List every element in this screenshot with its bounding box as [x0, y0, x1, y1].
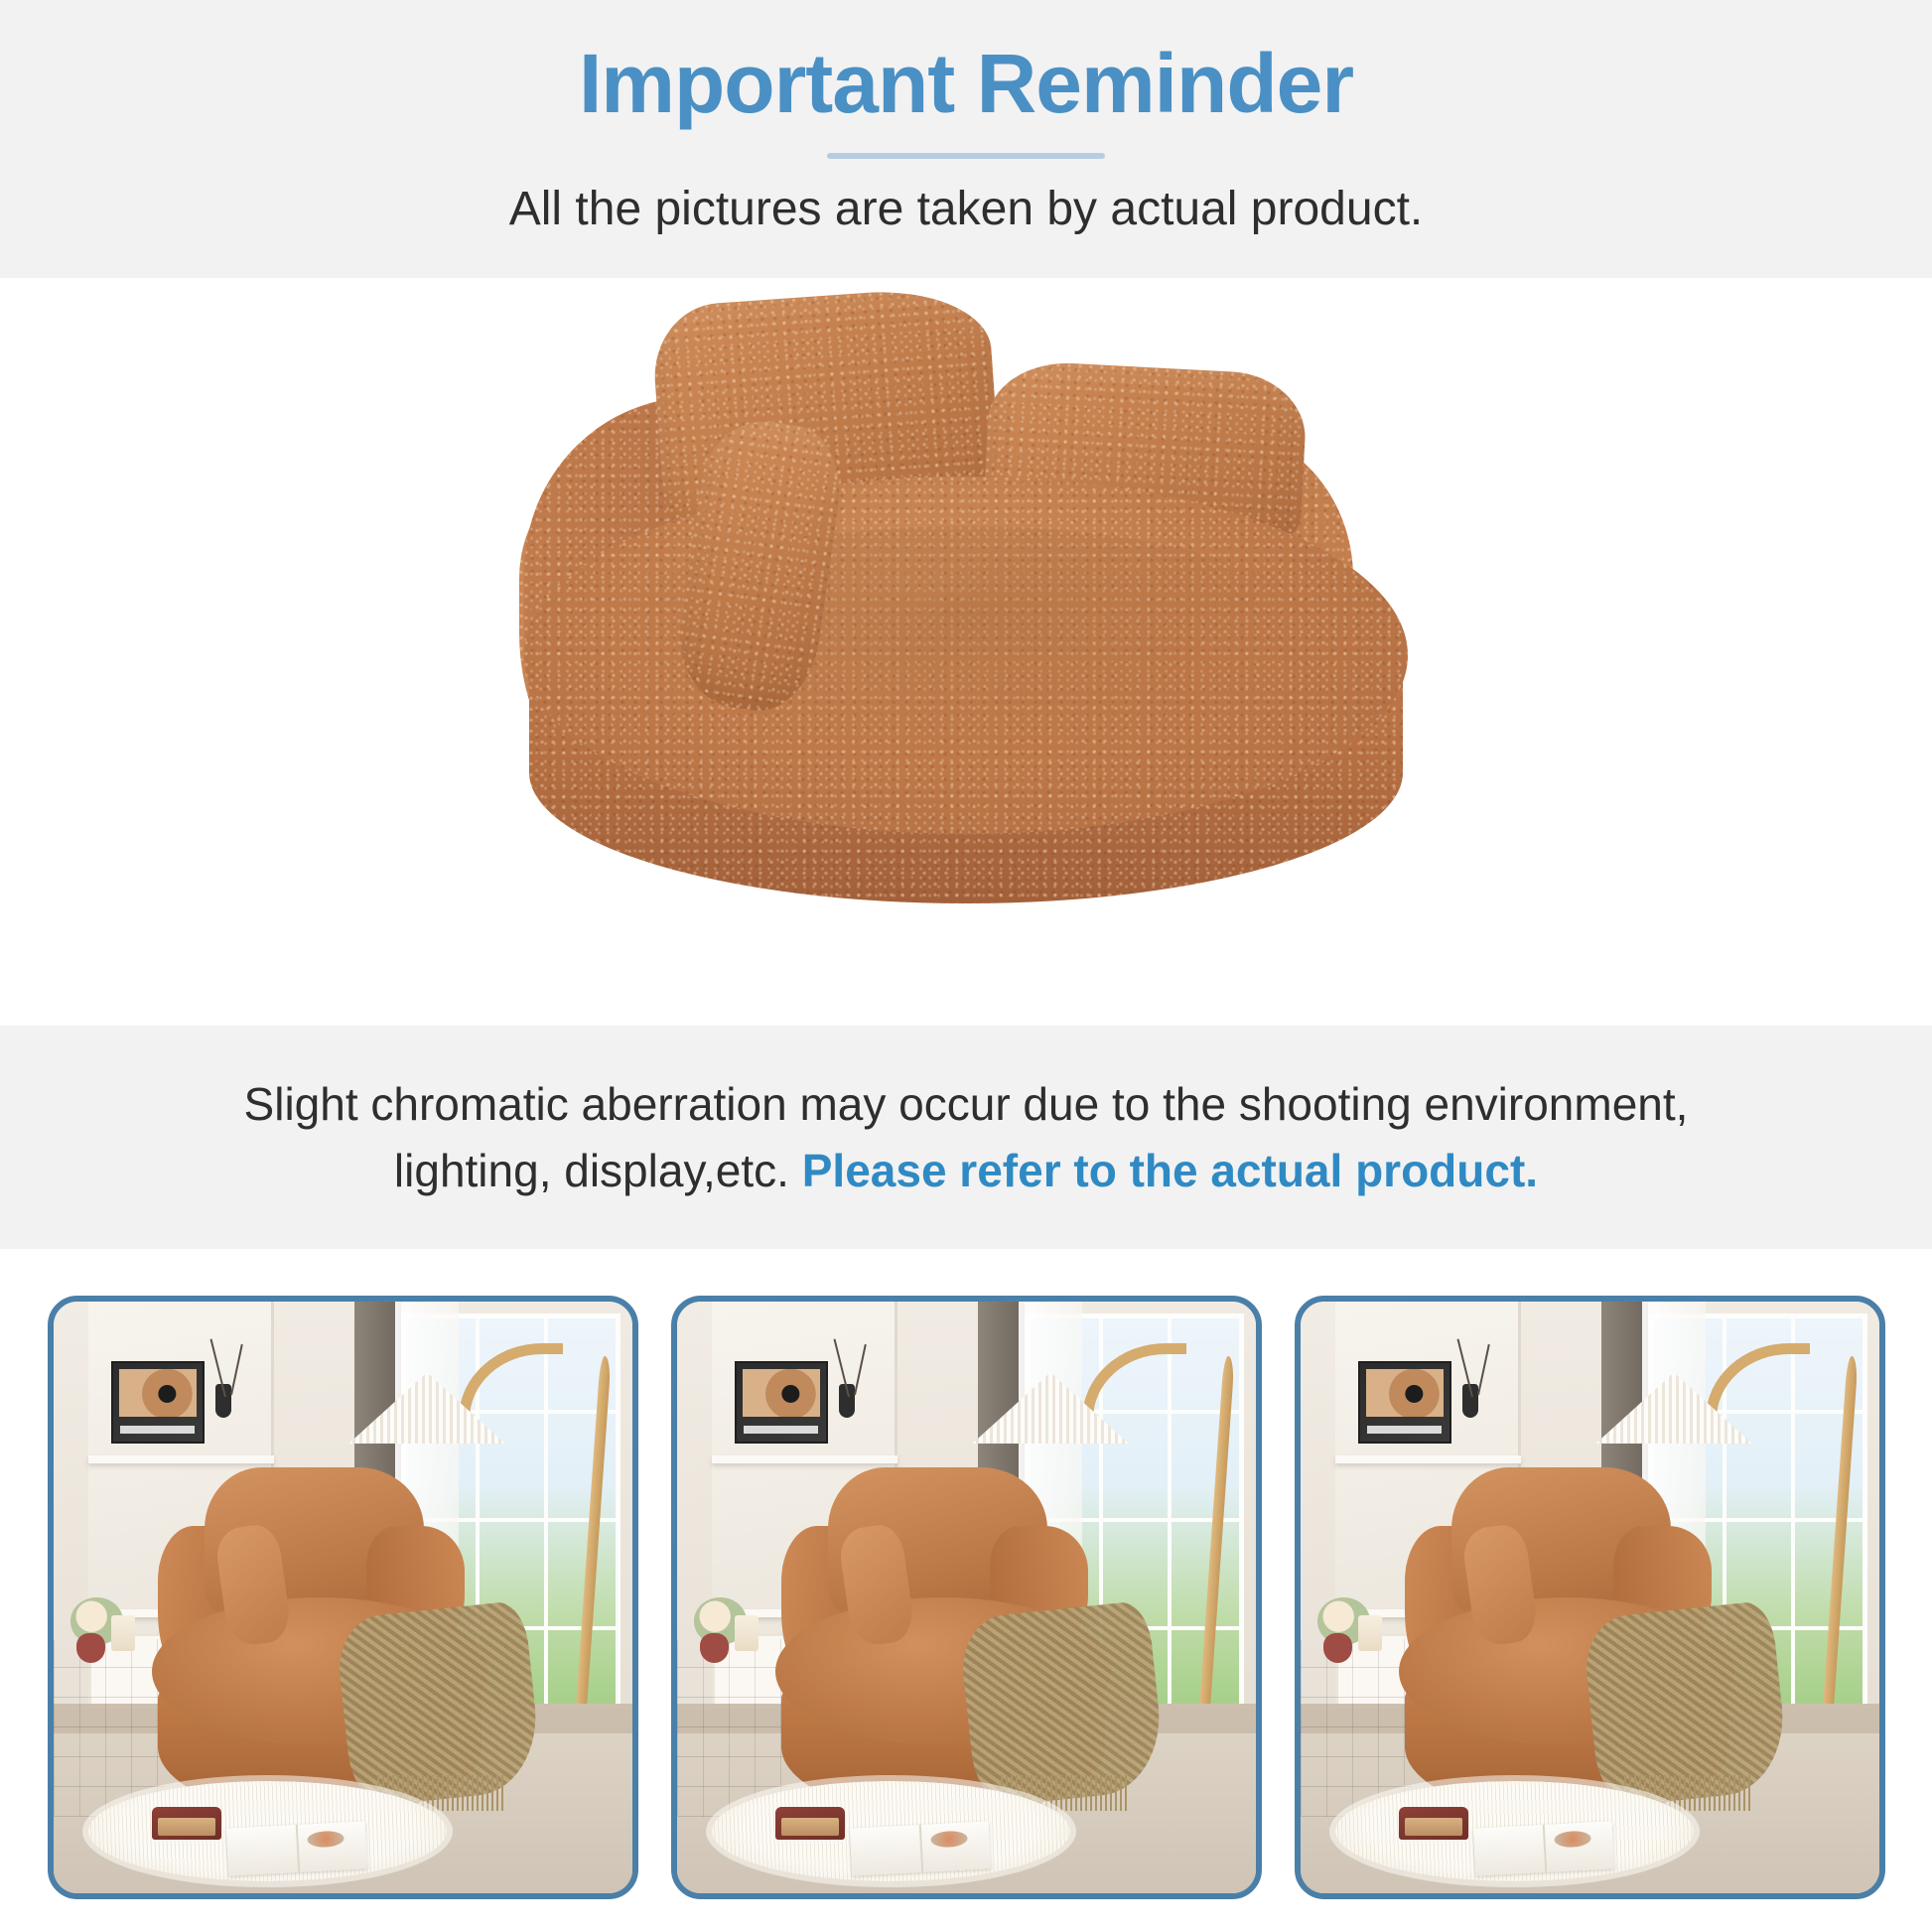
room-scene: [54, 1302, 632, 1893]
red-vase: [76, 1633, 105, 1663]
open-magazine: [226, 1822, 367, 1876]
vintage-radio: [775, 1807, 845, 1840]
candle: [111, 1615, 134, 1651]
poster-caption: [1367, 1426, 1442, 1434]
framed-poster: [111, 1361, 204, 1444]
product-detail-page: Important Reminder All the pictures are …: [0, 0, 1932, 1932]
magazine-fold: [1543, 1825, 1547, 1872]
title-divider: [827, 153, 1105, 159]
notice-line-2-plain: lighting, display,etc.: [394, 1145, 802, 1196]
important-reminder-banner: Important Reminder All the pictures are …: [0, 0, 1932, 278]
framed-poster: [735, 1361, 827, 1444]
open-magazine: [1473, 1822, 1614, 1876]
candle: [1358, 1615, 1381, 1651]
lifestyle-thumbnail-row: [0, 1249, 1932, 1932]
radio-face: [781, 1818, 840, 1837]
poster-artwork: [1366, 1369, 1445, 1417]
banner-subtitle: All the pictures are taken by actual pro…: [509, 181, 1424, 238]
living-room-scene-3[interactable]: [1295, 1296, 1885, 1899]
poster-artwork: [119, 1369, 198, 1417]
bookshelf-shelf: [88, 1455, 274, 1463]
room-scene: [1301, 1302, 1879, 1893]
notice-line-2-accent: Please refer to the actual product.: [802, 1145, 1538, 1196]
poster-caption: [120, 1426, 195, 1434]
open-magazine: [850, 1822, 991, 1876]
wood-dresser: [54, 1639, 164, 1817]
red-vase: [700, 1633, 729, 1663]
poster-artwork: [743, 1369, 821, 1417]
hero-product-image: [0, 278, 1932, 1026]
chair-illustration: [470, 278, 1462, 1026]
red-vase: [1323, 1633, 1352, 1663]
living-room-scene-1[interactable]: [48, 1296, 638, 1899]
framed-poster: [1358, 1361, 1450, 1444]
magazine-illustration: [307, 1831, 344, 1849]
poster-caption: [744, 1426, 818, 1434]
magazine-illustration: [930, 1831, 967, 1849]
page-title: Important Reminder: [579, 40, 1353, 127]
magazine-fold: [296, 1825, 300, 1872]
radio-face: [158, 1818, 216, 1837]
room-scene: [677, 1302, 1256, 1893]
vintage-radio: [152, 1807, 221, 1840]
bookshelf-shelf: [712, 1455, 897, 1463]
notice-text: Slight chromatic aberration may occur du…: [244, 1071, 1689, 1203]
magazine-illustration: [1554, 1831, 1590, 1849]
wood-dresser: [1301, 1639, 1411, 1817]
living-room-scene-2[interactable]: [671, 1296, 1262, 1899]
chromatic-aberration-notice: Slight chromatic aberration may occur du…: [0, 1026, 1932, 1249]
notice-line-1: Slight chromatic aberration may occur du…: [244, 1078, 1689, 1130]
bookshelf-shelf: [1335, 1455, 1521, 1463]
candle: [735, 1615, 758, 1651]
vintage-radio: [1399, 1807, 1468, 1840]
radio-face: [1405, 1818, 1463, 1837]
magazine-fold: [919, 1825, 923, 1872]
wood-dresser: [677, 1639, 787, 1817]
